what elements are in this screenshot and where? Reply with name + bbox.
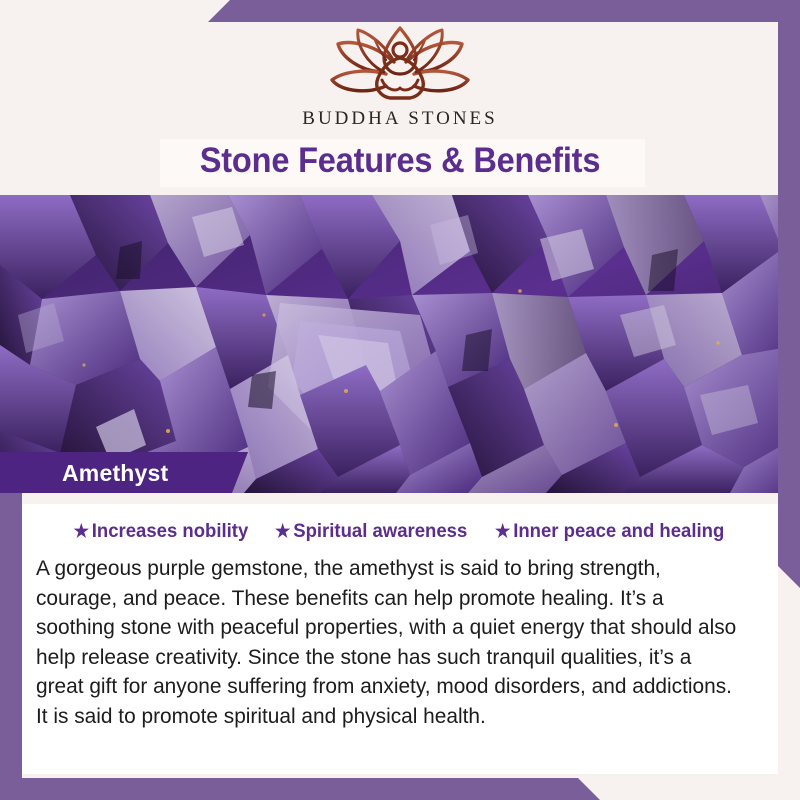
frame-left-accent xyxy=(0,493,22,800)
content-card: ★ Increases nobility ★ Spiritual awarene… xyxy=(22,504,778,774)
page-title: Stone Features & Benefits xyxy=(28,141,772,181)
benefit-label: Inner peace and healing xyxy=(514,520,725,543)
frame-right-accent xyxy=(778,0,800,588)
amethyst-hero-image xyxy=(0,195,800,493)
benefit-label: Spiritual awareness xyxy=(293,520,467,543)
benefit-item: ★ Increases nobility xyxy=(74,520,249,543)
star-icon: ★ xyxy=(74,522,89,540)
benefit-item: ★ Inner peace and healing xyxy=(495,520,724,543)
brand-logo: BUDDHA STONES xyxy=(0,22,800,130)
star-icon: ★ xyxy=(495,522,510,540)
benefit-item: ★ Spiritual awareness xyxy=(275,520,467,543)
star-icon: ★ xyxy=(275,522,290,540)
stone-name-banner: Amethyst xyxy=(0,452,248,493)
product-info-card: BUDDHA STONES Stone Features & Benefits xyxy=(0,0,800,800)
benefits-list: ★ Increases nobility ★ Spiritual awarene… xyxy=(22,504,778,543)
content-section: ★ Increases nobility ★ Spiritual awarene… xyxy=(0,493,800,800)
description-text: A gorgeous purple gemstone, the amethyst… xyxy=(36,554,742,731)
brand-name: BUDDHA STONES xyxy=(302,108,497,130)
lotus-meditation-figure-icon xyxy=(316,22,484,104)
stone-name-label: Amethyst xyxy=(62,460,168,487)
benefit-label: Increases nobility xyxy=(92,520,248,543)
